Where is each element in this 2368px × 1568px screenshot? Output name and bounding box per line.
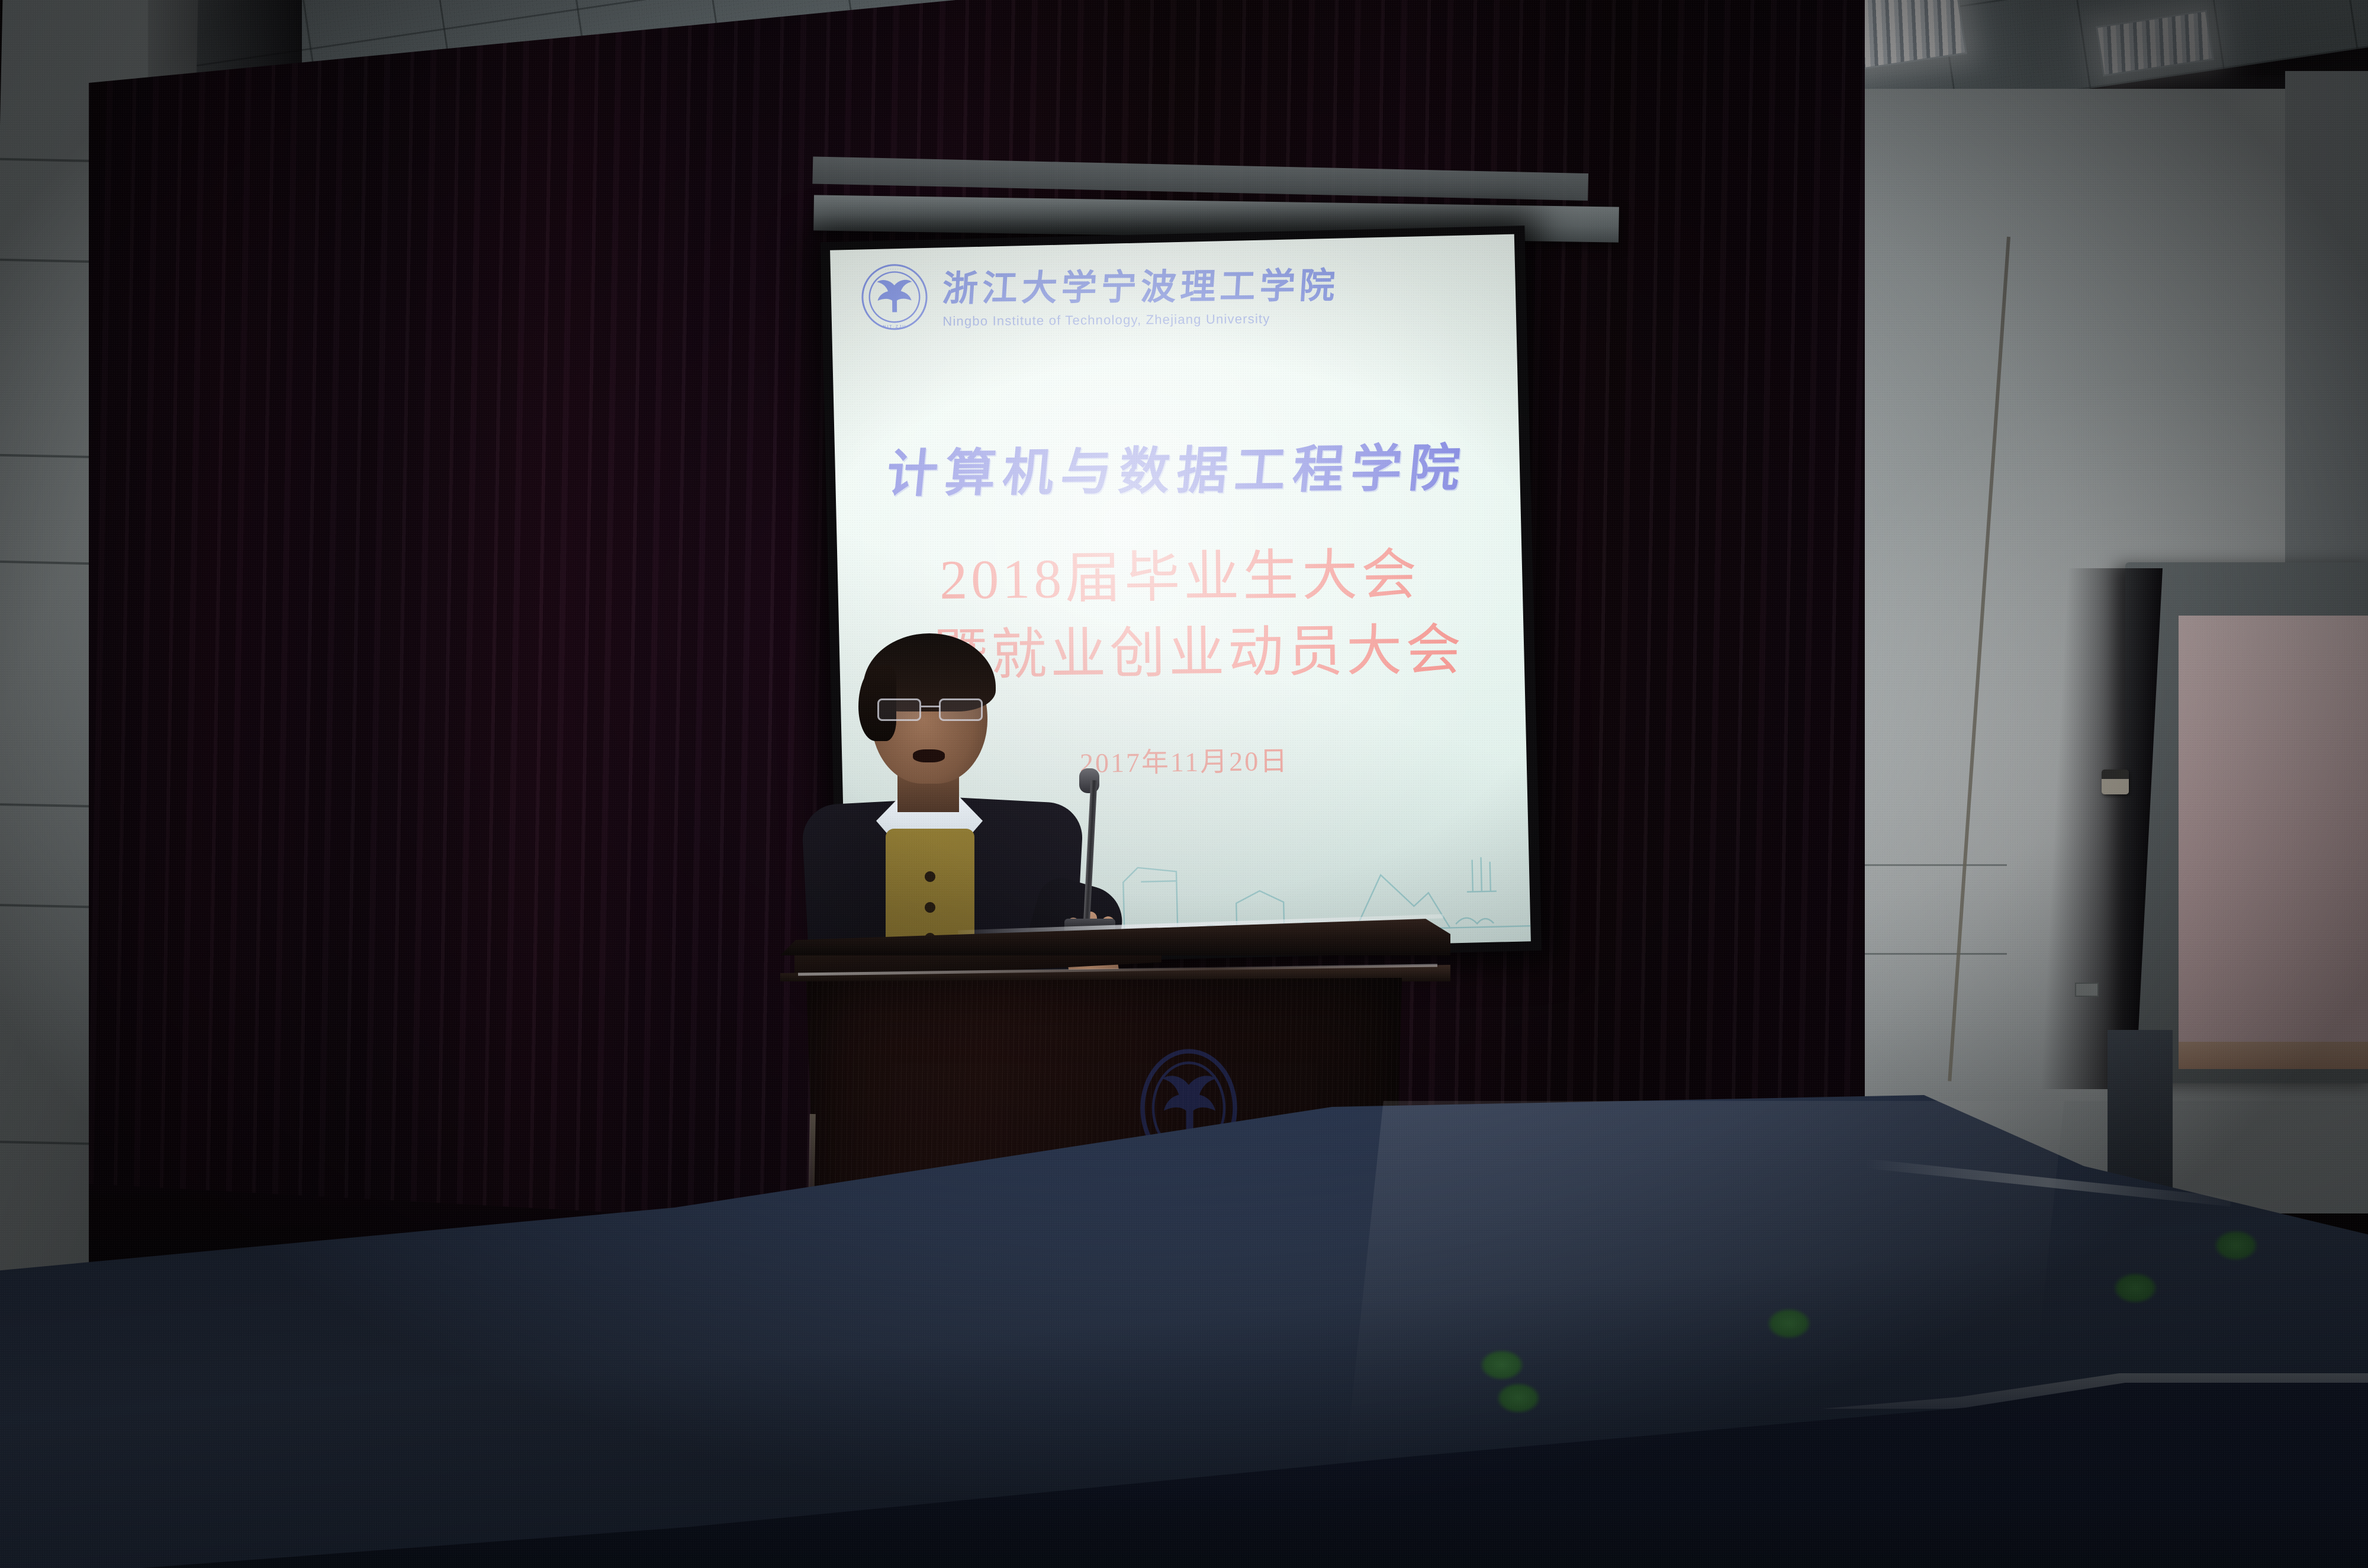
slide-org-name-en: Ningbo Institute of Technology, Zhejiang…	[942, 311, 1339, 329]
svg-text:NIT·ZJU: NIT·ZJU	[883, 325, 906, 329]
slide-header: · · · · · · · · NIT·ZJU 浙江大学宁波理工学院 Ningb…	[860, 259, 1340, 332]
speaker-glasses-icon	[876, 698, 986, 722]
doorway-threshold	[2179, 1042, 2368, 1069]
auditorium-photo: · · · · · · · · NIT·ZJU 浙江大学宁波理工学院 Ningb…	[0, 0, 2368, 1568]
floor-mark	[1480, 1350, 1524, 1380]
doorway-opening	[2179, 616, 2368, 1054]
floor-mark	[2113, 1273, 2157, 1303]
zju-nit-circular-emblem-icon: · · · · · · · · NIT·ZJU	[860, 262, 930, 332]
slide-title-line-1: 2018届毕业生大会	[837, 529, 1522, 616]
speaker-mouth	[913, 749, 945, 762]
floor-mark	[1767, 1308, 1811, 1339]
floor-mark	[2214, 1230, 2258, 1261]
slide-org-name-cn: 浙江大学宁波理工学院	[941, 268, 1340, 307]
svg-text:· · · · · · · ·: · · · · · · · ·	[885, 267, 904, 271]
floor-mark	[1497, 1383, 1540, 1414]
wall-outlet	[2075, 983, 2099, 997]
lectern-top	[780, 919, 1450, 955]
slide-org-block: 浙江大学宁波理工学院 Ningbo Institute of Technolog…	[942, 259, 1340, 329]
wall-mounted-fixture	[2102, 769, 2129, 794]
slide-school-name: 计算机与数据工程学院	[832, 426, 1523, 507]
